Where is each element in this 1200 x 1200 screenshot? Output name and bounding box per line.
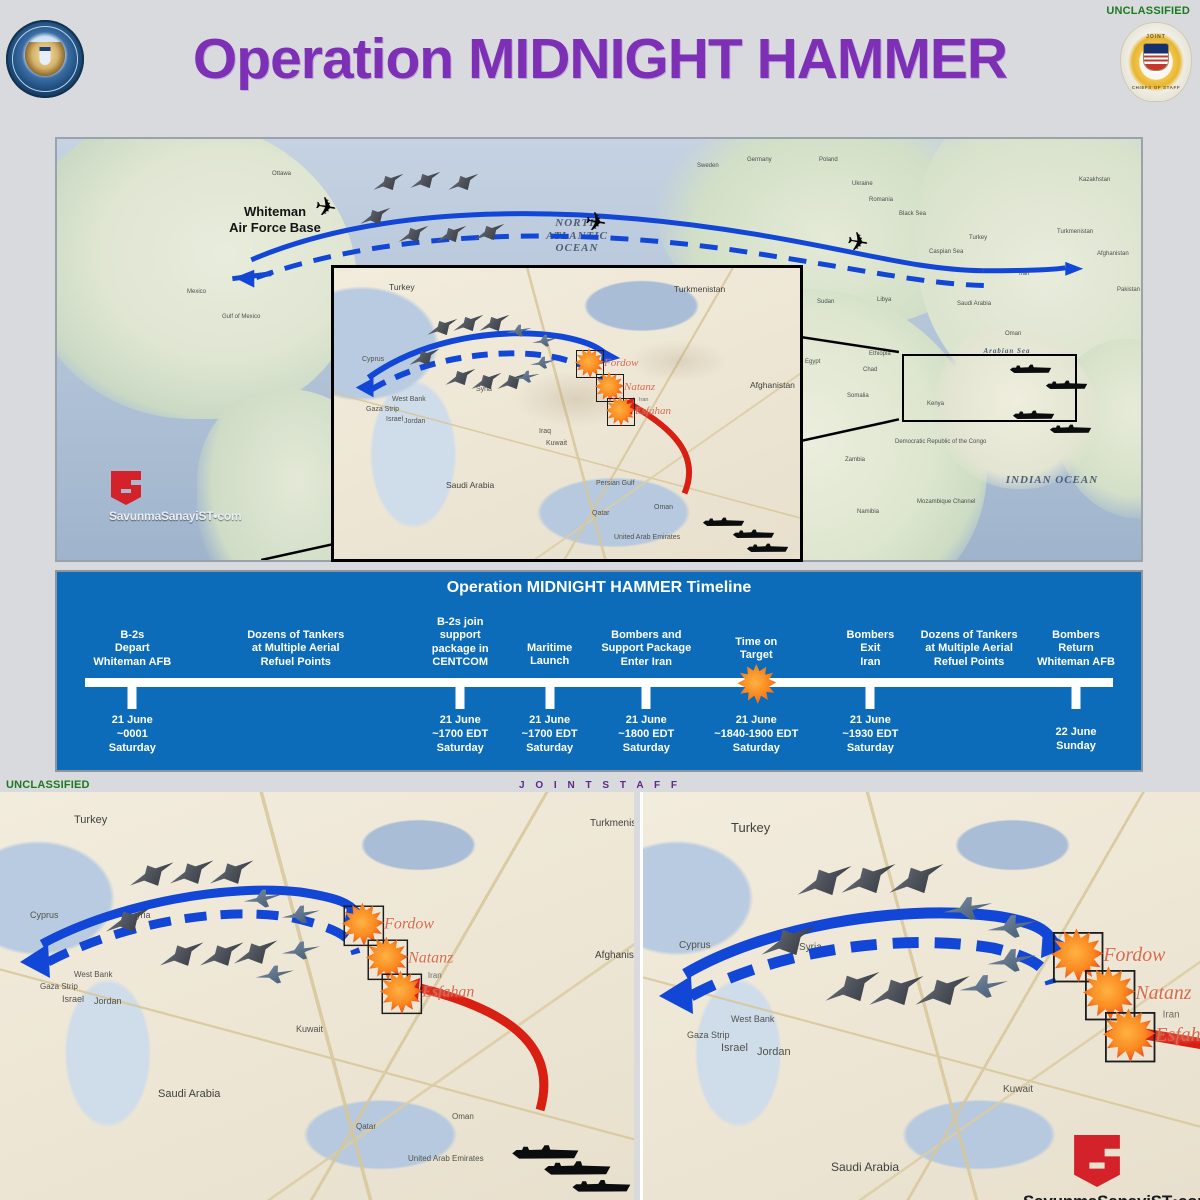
- escort-fighter-icon: [513, 368, 541, 386]
- country-label: Germany: [747, 157, 772, 163]
- country-label: Turkey: [731, 820, 770, 835]
- target-label: Esfahan: [422, 984, 474, 1001]
- country-label: Ukraine: [852, 181, 873, 187]
- timeline-tick-exit-iran: [866, 687, 875, 709]
- watermark-savunmasanayist: SavunmaSanayiST•com: [1023, 1132, 1200, 1200]
- st-logo-svg: [1071, 1132, 1123, 1190]
- target-label: Esfahan: [1155, 1025, 1200, 1047]
- operation-timeline: Operation MIDNIGHT HAMMER Timeline B-2sD…: [55, 570, 1143, 772]
- watermark-text: SavunmaSanayiST•com: [109, 509, 241, 523]
- timeline-tick-depart: [128, 687, 137, 709]
- timeline-title: Operation MIDNIGHT HAMMER Timeline: [57, 579, 1141, 597]
- page-title: Operation MIDNIGHT HAMMER: [0, 26, 1200, 92]
- country-label: Gulf of Mexico: [222, 314, 260, 320]
- naval-ship-icon: [1012, 407, 1056, 422]
- naval-ship-icon: [732, 526, 776, 541]
- escort-fighter-icon: [280, 901, 322, 928]
- country-label: Namibia: [857, 509, 879, 515]
- timeline-event-line: Depart: [57, 642, 207, 655]
- country-label: Qatar: [356, 1122, 376, 1131]
- timeline-date-line: 22 June: [1001, 726, 1151, 740]
- st-logo-icon: [1071, 1132, 1123, 1190]
- country-label: West Bank: [731, 1014, 774, 1024]
- country-label: Iraq: [539, 428, 551, 435]
- country-label: Black Sea: [899, 211, 926, 217]
- country-label: Gaza Strip: [40, 982, 78, 991]
- escort-fighter-icon: [957, 970, 1010, 1005]
- timeline-date-line: 21 June: [57, 714, 207, 728]
- country-label: Egypt: [805, 359, 820, 365]
- country-label: Saudi Arabia: [831, 1160, 899, 1174]
- country-label: Jordan: [757, 1046, 791, 1058]
- country-label: Saudi Arabia: [957, 301, 991, 307]
- country-label: Qatar: [592, 510, 610, 517]
- country-label: Caspian Sea: [929, 249, 963, 255]
- country-label: Iran: [1019, 271, 1029, 277]
- timeline-event-tankers-outbound: Dozens of Tankersat Multiple AerialRefue…: [221, 629, 371, 669]
- country-label: West Bank: [392, 396, 426, 403]
- classification-marking-top: UNCLASSIFIED: [1106, 5, 1190, 17]
- country-label: Turkmenistan: [1057, 229, 1093, 235]
- target-label: Fordow: [1103, 945, 1165, 967]
- timeline-event-line: Refuel Points: [221, 656, 371, 669]
- detail-inset-map: Turkey Cyprus Syria Israel Jordan West B…: [331, 265, 803, 562]
- timeline-date-return-whiteman: 22 JuneSunday: [1001, 726, 1151, 754]
- country-label: Afghanistan: [1097, 251, 1129, 257]
- ocean-label-line: NORTH: [517, 217, 637, 230]
- panel-right-base: Turkey Cyprus Syria Israel Jordan West B…: [643, 792, 1200, 1200]
- escort-fighter-icon: [505, 322, 533, 340]
- timeline-date-line: Sunday: [1001, 740, 1151, 754]
- escort-fighter-icon: [254, 961, 296, 988]
- tanker-aircraft-icon: ✈: [845, 227, 871, 256]
- country-label: Saudi Arabia: [446, 480, 494, 490]
- country-label: Oman: [452, 1112, 474, 1121]
- country-label: Saudi Arabia: [158, 1088, 220, 1100]
- timeline-event-depart: B-2sDepartWhiteman AFB: [57, 629, 207, 669]
- timeline-event-line: Whiteman AFB: [1001, 656, 1151, 669]
- panel-left-base: Turkey Cyprus Syria Israel Jordan West B…: [0, 792, 634, 1200]
- timeline-event-line: B-2s join: [385, 616, 535, 629]
- country-label: Gaza Strip: [687, 1030, 730, 1040]
- country-label: Somalia: [847, 393, 869, 399]
- timeline-event-return-whiteman: BombersReturnWhiteman AFB: [1001, 629, 1151, 669]
- country-label: Israel: [386, 416, 403, 423]
- escort-fighter-icon: [531, 332, 559, 350]
- target-label: Fordow: [604, 357, 638, 369]
- target-label: Natanz: [1135, 983, 1191, 1005]
- country-label: Mozambique Channel: [917, 499, 975, 505]
- ocean-label-indian-ocean: INDIAN OCEAN: [987, 474, 1117, 487]
- whiteman-label-line2: Air Force Base: [205, 220, 345, 236]
- watermark-savunmasanayist: SavunmaSanayiST•com: [109, 469, 241, 523]
- joint-staff-footer: J O I N T S T A F F: [0, 780, 1200, 791]
- country-label: Pakistan: [1117, 287, 1140, 293]
- country-label: Israel: [721, 1042, 748, 1054]
- timeline-date-line: ~1930 EDT: [795, 728, 945, 742]
- watermark-text: SavunmaSanayiST•com: [1023, 1192, 1200, 1200]
- target-label: Esfahan: [635, 405, 671, 417]
- ocean-label-line: ATLANTIC: [517, 230, 637, 243]
- timeline-date-line: ~0001: [57, 728, 207, 742]
- country-label: United Arab Emirates: [614, 534, 680, 541]
- country-label: Ethiopia: [869, 351, 891, 357]
- ocean-label-line: OCEAN: [517, 242, 637, 255]
- timeline-tick-maritime-launch: [545, 687, 554, 709]
- country-label: Israel: [62, 994, 84, 1004]
- iran-country-tag: Iran: [639, 397, 648, 403]
- country-label: Kuwait: [296, 1024, 323, 1034]
- iran-country-tag: Iran: [428, 972, 442, 981]
- country-label: Turkmenistan: [674, 284, 725, 294]
- country-label: Kazakhstan: [1079, 177, 1110, 183]
- timeline-event-line: at Multiple Aerial: [221, 642, 371, 655]
- timeline-event-line: Dozens of Tankers: [221, 629, 371, 642]
- country-label: Kuwait: [1003, 1084, 1033, 1095]
- target-label: Natanz: [624, 381, 655, 393]
- target-label: Fordow: [384, 916, 434, 933]
- escort-fighter-icon: [280, 937, 322, 964]
- country-label: Gaza Strip: [366, 406, 399, 413]
- tanker-aircraft-icon: ✈: [313, 192, 339, 221]
- timeline-tick-enter-iran: [642, 687, 651, 709]
- country-label: Kuwait: [546, 440, 567, 447]
- country-label: Turkey: [969, 235, 987, 241]
- timeline-tick-centcom-join: [456, 687, 465, 709]
- timeline-event-line: Bombers: [1001, 629, 1151, 642]
- timeline-date-line: Saturday: [57, 742, 207, 756]
- country-label: Zambia: [845, 457, 865, 463]
- country-label: Syria: [799, 942, 822, 953]
- timeline-event-line: Whiteman AFB: [57, 656, 207, 669]
- ocean-label-north-atlantic: NORTH ATLANTIC OCEAN: [517, 217, 637, 255]
- timeline-date-line: Saturday: [795, 742, 945, 756]
- iran-country-tag: Iran: [1163, 1010, 1180, 1021]
- enlarged-map-right: Turkey Cyprus Syria Israel Jordan West B…: [640, 792, 1200, 1200]
- country-label: Libya: [877, 297, 891, 303]
- country-label: Jordan: [404, 418, 425, 425]
- country-label: Sudan: [817, 299, 834, 305]
- country-label: Cyprus: [679, 940, 711, 951]
- country-label: United Arab Emirates: [408, 1154, 484, 1163]
- naval-ship-icon: [571, 1175, 633, 1196]
- briefing-slide: UNCLASSIFIED JOINT CHIEFS OF STAFF Opera…: [0, 0, 1200, 788]
- country-label: Sweden: [697, 163, 719, 169]
- target-label: Natanz: [408, 950, 453, 967]
- escort-fighter-icon: [242, 885, 284, 912]
- country-label: Cyprus: [30, 910, 59, 920]
- country-label: Persian Gulf: [596, 480, 635, 487]
- country-label: Afghanistan: [750, 380, 795, 390]
- st-logo-icon: [109, 469, 143, 507]
- country-label: Romania: [869, 197, 893, 203]
- country-label: Ottawa: [272, 171, 291, 177]
- timeline-event-line: B-2s: [57, 629, 207, 642]
- timeline-event-line: Return: [1001, 642, 1151, 655]
- country-label: Turkey: [74, 814, 107, 826]
- naval-ship-icon: [1009, 361, 1053, 376]
- country-label: Chad: [863, 367, 877, 373]
- country-label: Oman: [1005, 331, 1021, 337]
- country-label: Democratic Republic of the Congo: [895, 439, 986, 445]
- timeline-date-depart: 21 June~0001Saturday: [57, 714, 207, 755]
- timeline-event-line: support: [385, 629, 535, 642]
- country-label: West Bank: [74, 970, 113, 979]
- tanker-aircraft-icon: ✈: [583, 207, 609, 236]
- enlarged-map-left: Turkey Cyprus Syria Israel Jordan West B…: [0, 792, 634, 1200]
- naval-ship-icon: [1045, 377, 1089, 392]
- country-label: Turkey: [389, 282, 415, 292]
- st-logo-svg: [109, 469, 143, 507]
- timeline-date-exit-iran: 21 June~1930 EDTSaturday: [795, 714, 945, 755]
- escort-fighter-icon: [985, 910, 1038, 945]
- timeline-date-line: 21 June: [795, 714, 945, 728]
- landmass-north-america: [55, 137, 357, 419]
- country-label: Afghanistan: [595, 950, 634, 961]
- naval-ship-icon: [746, 540, 790, 555]
- timeline-tick-return-whiteman: [1071, 687, 1080, 709]
- country-label: Poland: [819, 157, 838, 163]
- country-label: Jordan: [94, 996, 122, 1006]
- timeline-target-explosion-icon: [736, 664, 776, 704]
- country-label: Turkmenistan: [590, 818, 634, 829]
- naval-ship-icon: [1049, 421, 1093, 436]
- country-label: Mexico: [187, 289, 206, 295]
- country-label: Cyprus: [362, 356, 384, 363]
- timeline-axis: [85, 678, 1113, 687]
- country-label: Oman: [654, 504, 673, 511]
